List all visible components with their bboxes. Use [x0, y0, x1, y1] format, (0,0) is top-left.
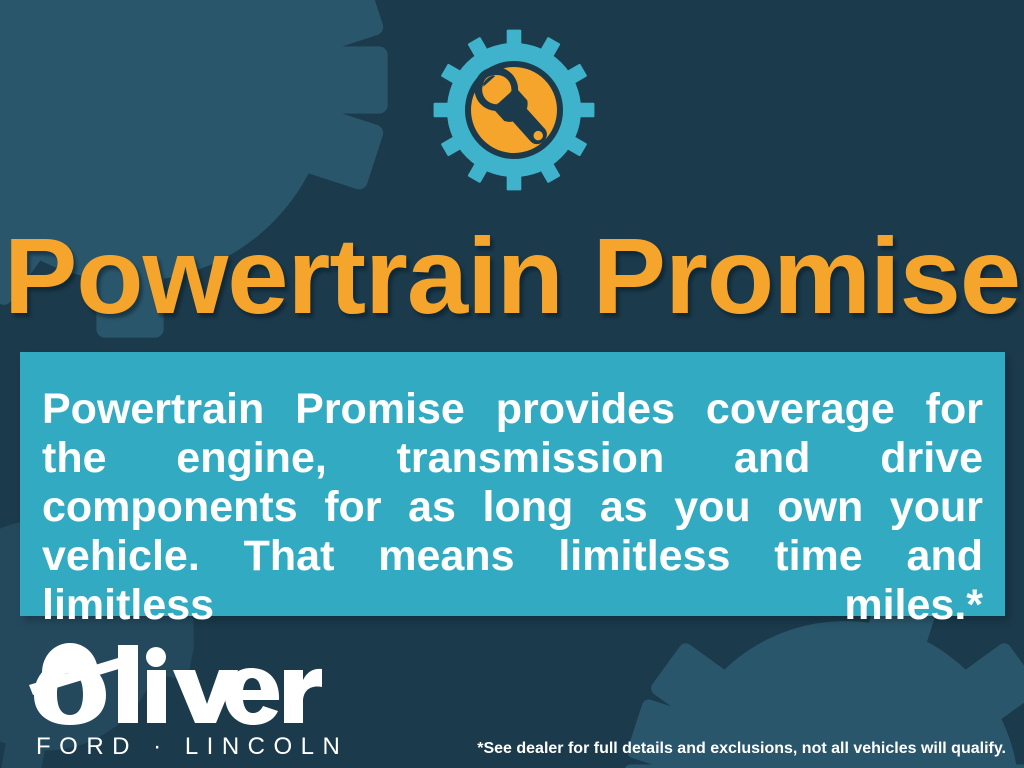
oliver-wordmark — [26, 640, 326, 725]
promise-description-panel: Powertrain Promise provides coverage for… — [20, 352, 1005, 616]
powertrain-promise-poster: Powertrain Promise Powertrain Promise pr… — [0, 0, 1024, 768]
page-title: Powertrain Promise — [0, 222, 1024, 330]
disclaimer-text: *See dealer for full details and exclusi… — [477, 740, 1006, 758]
promise-description-text: Powertrain Promise provides coverage for… — [42, 385, 983, 679]
gear-wrench-icon — [428, 24, 600, 196]
dealer-logo-subtitle: FORD · LINCOLN — [36, 733, 348, 761]
